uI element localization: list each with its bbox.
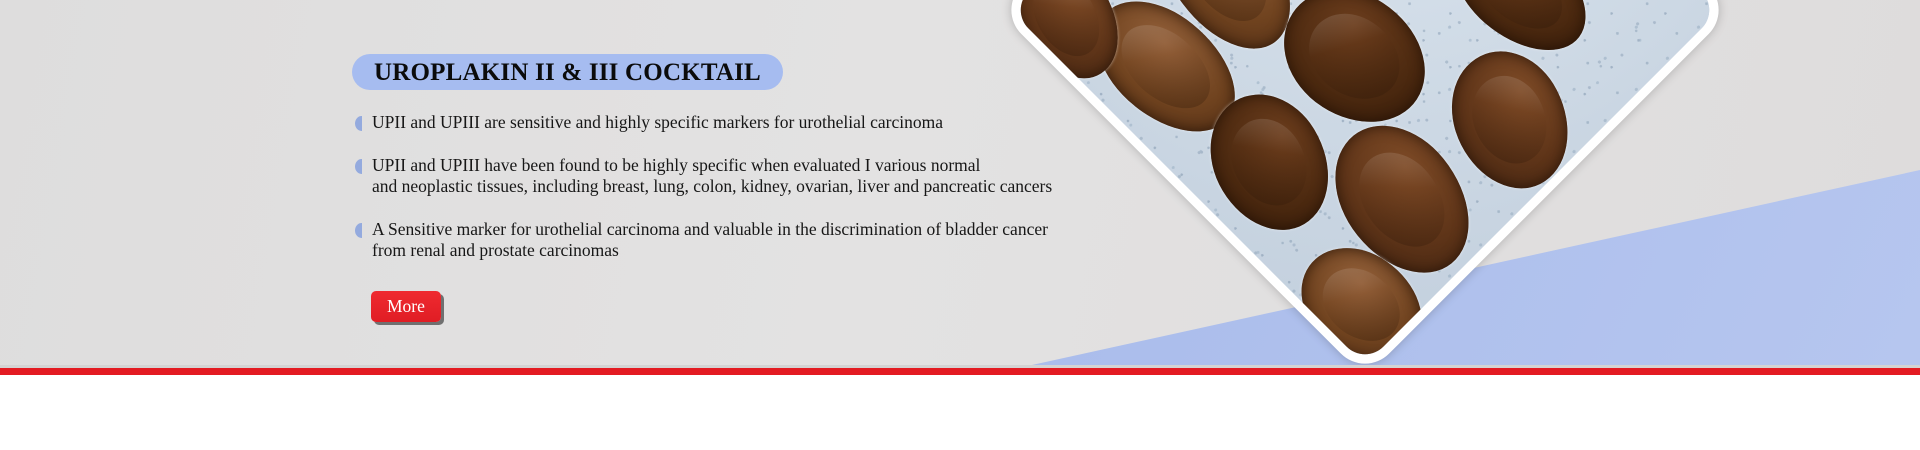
bottom-white-area bbox=[0, 375, 1920, 450]
leaf-bullet-icon bbox=[355, 159, 362, 174]
list-item-text: UPII and UPIII are sensitive and highly … bbox=[372, 112, 943, 134]
list-item: UPII and UPIII have been found to be hig… bbox=[355, 155, 1055, 198]
list-item-text: A Sensitive marker for urothelial carcin… bbox=[372, 219, 1048, 262]
page-title-badge: UROPLAKIN II & III COCKTAIL bbox=[352, 54, 783, 90]
page-title: UROPLAKIN II & III COCKTAIL bbox=[374, 60, 761, 85]
more-button[interactable]: More bbox=[371, 291, 441, 322]
leaf-bullet-icon bbox=[355, 116, 362, 131]
promo-banner: UROPLAKIN II & III COCKTAIL UPII and UPI… bbox=[0, 0, 1920, 450]
feature-bullet-list: UPII and UPIII are sensitive and highly … bbox=[355, 112, 1055, 283]
leaf-bullet-icon bbox=[355, 223, 362, 238]
list-item: A Sensitive marker for urothelial carcin… bbox=[355, 219, 1055, 262]
list-item: UPII and UPIII are sensitive and highly … bbox=[355, 112, 1055, 134]
bottom-accent-strip bbox=[0, 368, 1920, 375]
list-item-text: UPII and UPIII have been found to be hig… bbox=[372, 155, 1052, 198]
